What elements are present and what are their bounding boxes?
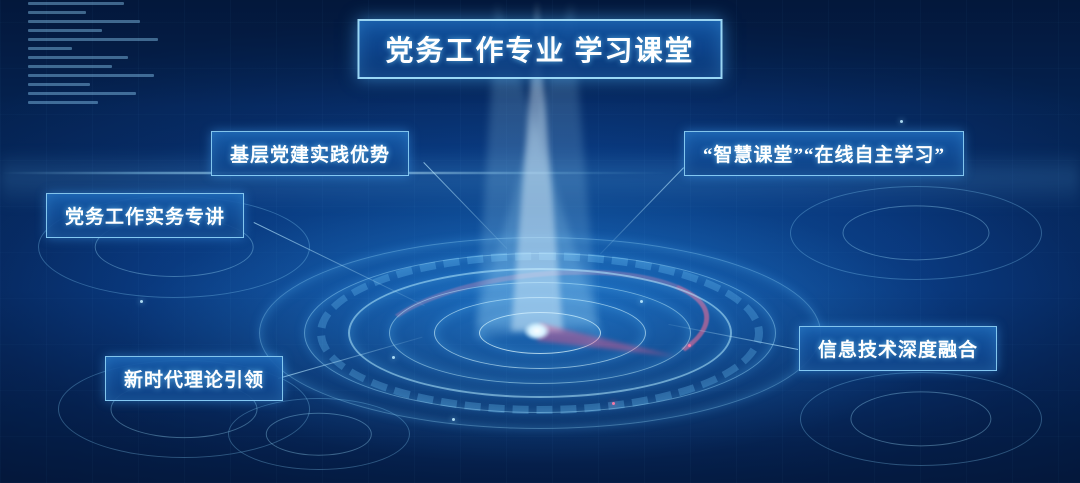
ring-inner — [479, 312, 601, 354]
ring-4 — [389, 282, 691, 384]
connector-line-n5 — [668, 324, 798, 350]
particle — [900, 120, 903, 123]
satellite-ring-right-lower — [800, 372, 1042, 466]
topic-label-grassroots-party-building[interactable]: 基层党建实践优势 — [211, 131, 409, 176]
light-beam-pink — [537, 323, 678, 365]
topic-label-it-integration[interactable]: 信息技术深度融合 — [799, 326, 997, 371]
particle — [392, 356, 395, 359]
connector-line-n4 — [600, 167, 684, 254]
page-title: 党务工作专业 学习课堂 — [357, 19, 722, 79]
connector-line-n2 — [254, 222, 425, 306]
presentation-slide: 党务工作专业 学习课堂 基层党建实践优势 党务工作实务专讲 新时代理论引领 “智… — [0, 0, 1080, 483]
light-beam-core — [524, 322, 550, 340]
topic-label-party-affairs-practice[interactable]: 党务工作实务专讲 — [46, 193, 244, 238]
ring-outer — [259, 237, 821, 429]
holographic-rings — [260, 218, 820, 448]
particle — [640, 300, 643, 303]
satellite-ring-right-upper — [790, 186, 1042, 280]
connector-line-n1 — [423, 162, 507, 249]
ring-3 — [348, 268, 732, 398]
particle — [140, 300, 143, 303]
topic-label-new-era-theory[interactable]: 新时代理论引领 — [105, 356, 283, 401]
particle — [688, 344, 691, 347]
ring-dashed — [317, 252, 763, 414]
connector-line-n3 — [278, 337, 422, 379]
particle — [452, 418, 455, 421]
ring-5 — [434, 297, 646, 369]
ring-arc-highlight — [365, 255, 716, 412]
satellite-ring-bottom — [228, 398, 410, 470]
topic-label-smart-classroom[interactable]: “智慧课堂”“在线自主学习” — [684, 131, 964, 176]
code-snippet-texture — [28, 2, 178, 132]
ring-2 — [304, 253, 776, 413]
particle — [612, 402, 615, 405]
